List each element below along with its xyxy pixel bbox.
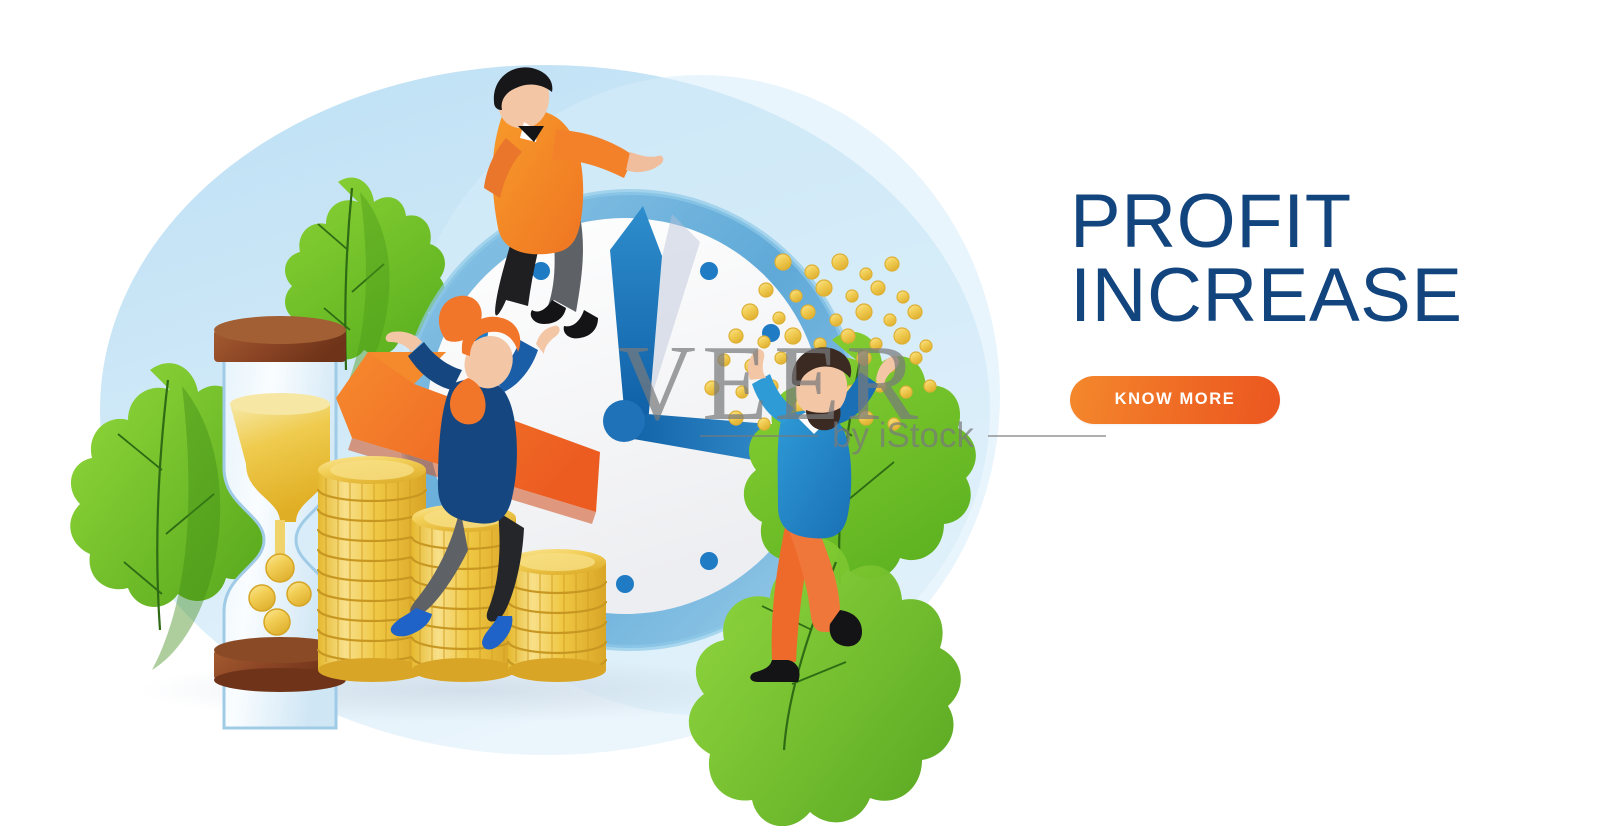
clock-center-cap xyxy=(603,400,645,442)
hourglass-cap-top xyxy=(214,316,346,362)
page-title: PROFIT INCREASE xyxy=(1070,185,1530,334)
illustration-banner: VEER by iStock PROFIT INCREASE KNOW MORE xyxy=(0,0,1600,826)
headline-line-1: PROFIT xyxy=(1070,179,1352,264)
headline-line-2: INCREASE xyxy=(1070,259,1530,333)
coin-stack-short xyxy=(508,549,606,682)
coin-stack-tall xyxy=(318,456,426,682)
text-panel: PROFIT INCREASE KNOW MORE xyxy=(1070,185,1530,424)
know-more-button[interactable]: KNOW MORE xyxy=(1070,376,1280,424)
